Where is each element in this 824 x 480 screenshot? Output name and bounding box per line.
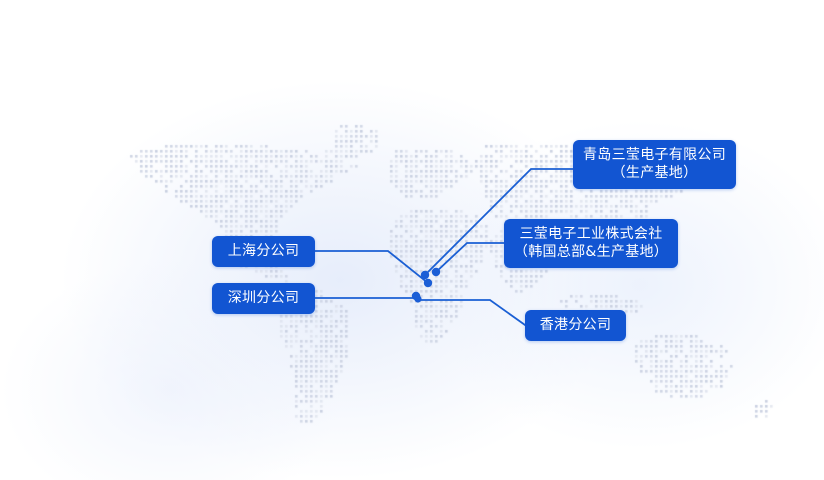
label-korea-line2: （韩国总部&生产基地） bbox=[514, 244, 668, 262]
label-korea-hq[interactable]: 三莹电子工业株式会社 （韩国总部&生产基地） bbox=[504, 219, 678, 268]
map-infographic: 青岛三莹电子有限公司 （生产基地） 三莹电子工业株式会社 （韩国总部&生产基地）… bbox=[0, 0, 824, 480]
world-dot-map bbox=[0, 0, 824, 480]
label-qingdao-line1: 青岛三莹电子有限公司 bbox=[583, 147, 726, 165]
label-hongkong[interactable]: 香港分公司 bbox=[525, 310, 626, 341]
label-shanghai[interactable]: 上海分公司 bbox=[212, 236, 315, 267]
label-qingdao[interactable]: 青岛三莹电子有限公司 （生产基地） bbox=[573, 140, 736, 189]
label-shenzhen[interactable]: 深圳分公司 bbox=[212, 283, 315, 314]
label-shanghai-line1: 上海分公司 bbox=[228, 243, 300, 261]
label-korea-line1: 三莹电子工业株式会社 bbox=[520, 226, 663, 244]
label-shenzhen-line1: 深圳分公司 bbox=[228, 290, 300, 308]
label-hongkong-line1: 香港分公司 bbox=[540, 317, 612, 335]
label-qingdao-line2: （生产基地） bbox=[612, 165, 698, 183]
